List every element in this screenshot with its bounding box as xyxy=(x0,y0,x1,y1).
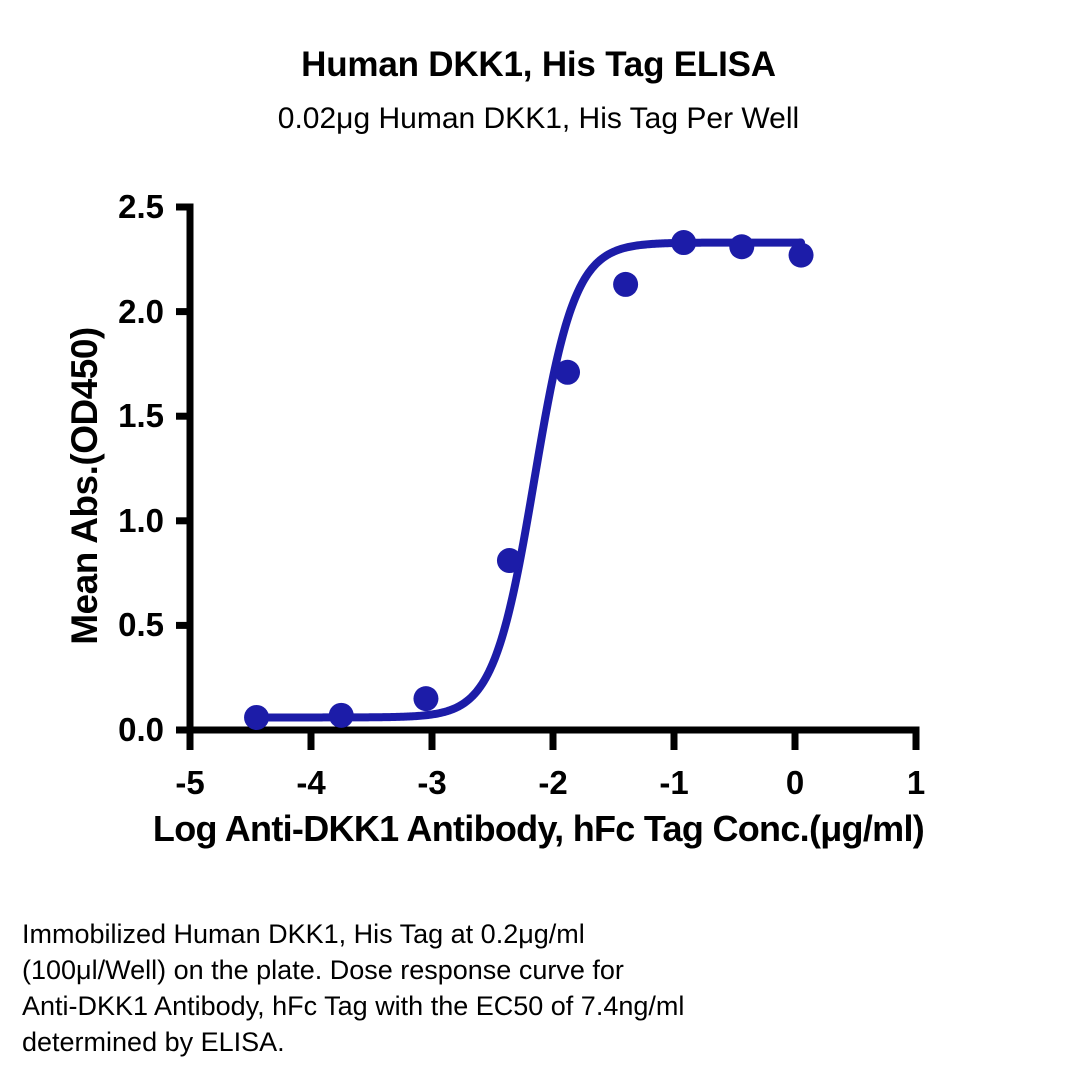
x-tick-label: -1 xyxy=(634,766,714,799)
data-point-marker[interactable] xyxy=(729,234,754,259)
data-point-marker[interactable] xyxy=(555,360,580,385)
y-tick-label: 1.0 xyxy=(54,504,164,537)
y-tick-label: 1.5 xyxy=(54,399,164,432)
x-tick-label: 1 xyxy=(876,766,956,799)
plot-area: Mean Abs.(OD450) Log Anti-DKK1 Antibody,… xyxy=(0,0,1077,900)
axes xyxy=(176,204,920,751)
data-point-marker[interactable] xyxy=(497,548,522,573)
x-tick-label: -2 xyxy=(513,766,593,799)
x-tick-label: 0 xyxy=(755,766,835,799)
data-point-marker[interactable] xyxy=(413,686,438,711)
data-points xyxy=(244,230,814,730)
data-point-marker[interactable] xyxy=(613,272,638,297)
caption-line-4: determined by ELISA. xyxy=(22,1024,962,1060)
y-tick-label: 0.0 xyxy=(54,713,164,746)
x-tick-label: -5 xyxy=(150,766,230,799)
data-point-marker[interactable] xyxy=(789,243,814,268)
x-axis-title: Log Anti-DKK1 Antibody, hFc Tag Conc.(μg… xyxy=(0,808,1077,850)
fit-curve xyxy=(257,243,802,718)
y-tick-label: 0.5 xyxy=(54,608,164,641)
x-tick-label: -4 xyxy=(271,766,351,799)
caption-line-1: Immobilized Human DKK1, His Tag at 0.2μg… xyxy=(22,916,962,952)
caption-line-2: (100μl/Well) on the plate. Dose response… xyxy=(22,952,962,988)
y-tick-label: 2.0 xyxy=(54,295,164,328)
figure-caption: Immobilized Human DKK1, His Tag at 0.2μg… xyxy=(22,916,962,1060)
data-point-marker[interactable] xyxy=(329,703,354,728)
figure-root: Human DKK1, His Tag ELISA 0.02μg Human D… xyxy=(0,0,1077,1079)
y-tick-label: 2.5 xyxy=(54,190,164,223)
caption-line-3: Anti-DKK1 Antibody, hFc Tag with the EC5… xyxy=(22,988,962,1024)
data-point-marker[interactable] xyxy=(244,705,269,730)
data-point-marker[interactable] xyxy=(671,230,696,255)
x-tick-label: -3 xyxy=(392,766,472,799)
dose-response-curve xyxy=(257,243,802,718)
